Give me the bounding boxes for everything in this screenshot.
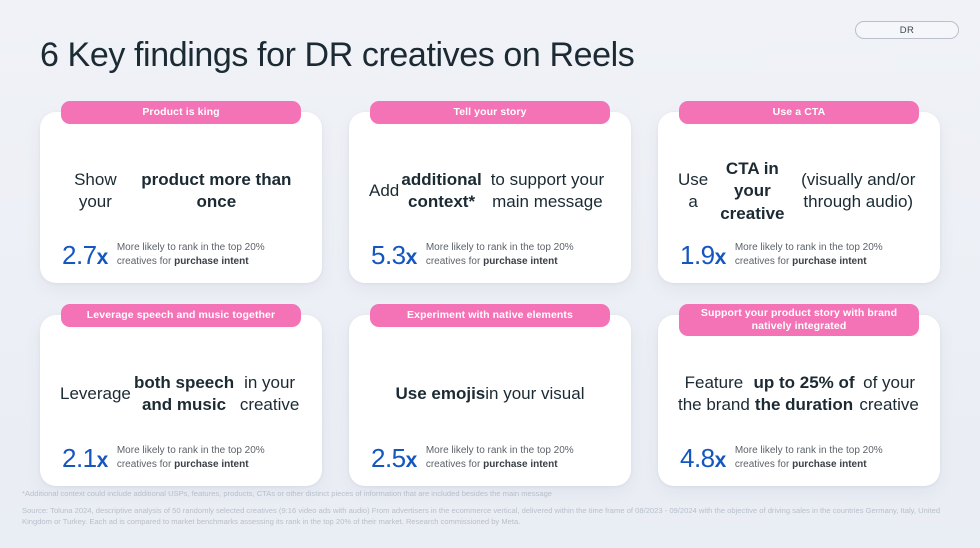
- finding-card-4[interactable]: Leverage both speech and music in your c…: [40, 304, 322, 486]
- stat-number: 2.7: [62, 240, 97, 270]
- stat-value: 2.5x: [371, 445, 417, 471]
- finding-card-5[interactable]: Use emojis in your visual 2.5x More like…: [349, 304, 631, 486]
- stat-desc-line1: More likely to rank in the top 20%: [426, 445, 574, 456]
- stat-number: 1.9: [680, 240, 715, 270]
- stat-desc-line1: More likely to rank in the top 20%: [735, 242, 883, 253]
- stat-desc-line2-prefix: creatives for: [735, 459, 792, 470]
- stat-desc-line2-emphasis: purchase intent: [483, 459, 557, 470]
- slide-root: DR 6 Key findings for DR creatives on Re…: [0, 0, 980, 548]
- card-body: Leverage both speech and music in your c…: [40, 315, 322, 486]
- stat-desc-line2-prefix: creatives for: [735, 256, 792, 267]
- stat-desc-line2-prefix: creatives for: [117, 256, 174, 267]
- stat-row: 2.7x More likely to rank in the top 20% …: [56, 241, 306, 269]
- stat-desc-line2-emphasis: purchase intent: [792, 256, 866, 267]
- stat-description: More likely to rank in the top 20% creat…: [426, 444, 574, 472]
- stat-suffix: x: [715, 449, 726, 472]
- finding-card-2[interactable]: Add additional context* to support your …: [349, 101, 631, 283]
- dr-pill-badge[interactable]: DR: [855, 21, 959, 39]
- stat-description: More likely to rank in the top 20% creat…: [735, 444, 883, 472]
- findings-grid: Show your product more than once 2.7x Mo…: [40, 101, 941, 486]
- card-badge: Leverage speech and music together: [61, 304, 301, 327]
- stat-row: 2.5x More likely to rank in the top 20% …: [365, 444, 615, 472]
- card-body: Feature the brand up to 25% of the durat…: [658, 315, 940, 486]
- stat-suffix: x: [406, 449, 417, 472]
- card-badge: Use a CTA: [679, 101, 919, 124]
- stat-desc-line1: More likely to rank in the top 20%: [117, 445, 265, 456]
- card-headline: Feature the brand up to 25% of the durat…: [674, 345, 924, 444]
- stat-desc-line2-emphasis: purchase intent: [174, 256, 248, 267]
- card-badge: Tell your story: [370, 101, 610, 124]
- card-body: Use emojis in your visual 2.5x More like…: [349, 315, 631, 486]
- stat-description: More likely to rank in the top 20% creat…: [735, 241, 883, 269]
- card-badge: Experiment with native elements: [370, 304, 610, 327]
- stat-suffix: x: [715, 246, 726, 269]
- footnote-additional-context: *Additional context could include additi…: [22, 489, 962, 500]
- stat-number: 2.5: [371, 443, 406, 473]
- stat-desc-line2-emphasis: purchase intent: [174, 459, 248, 470]
- stat-desc-line1: More likely to rank in the top 20%: [117, 242, 265, 253]
- stat-description: More likely to rank in the top 20% creat…: [117, 444, 265, 472]
- stat-desc-line2-prefix: creatives for: [426, 459, 483, 470]
- stat-desc-line1: More likely to rank in the top 20%: [426, 242, 574, 253]
- card-body: Use a CTA in your creative (visually and…: [658, 112, 940, 283]
- footnote-source: Source: Toluna 2024, descriptive analysi…: [22, 506, 962, 528]
- card-headline: Add additional context* to support your …: [365, 142, 615, 241]
- stat-number: 5.3: [371, 240, 406, 270]
- finding-card-1[interactable]: Show your product more than once 2.7x Mo…: [40, 101, 322, 283]
- finding-card-6[interactable]: Feature the brand up to 25% of the durat…: [658, 304, 940, 486]
- stat-value: 2.7x: [62, 242, 108, 268]
- stat-description: More likely to rank in the top 20% creat…: [117, 241, 265, 269]
- stat-row: 4.8x More likely to rank in the top 20% …: [674, 444, 924, 472]
- stat-desc-line2-prefix: creatives for: [426, 256, 483, 267]
- stat-number: 4.8: [680, 443, 715, 473]
- card-body: Show your product more than once 2.7x Mo…: [40, 112, 322, 283]
- card-badge: Support your product story with brand na…: [679, 304, 919, 336]
- dr-pill-label: DR: [900, 25, 915, 36]
- stat-suffix: x: [97, 246, 108, 269]
- stat-value: 2.1x: [62, 445, 108, 471]
- stat-desc-line2-emphasis: purchase intent: [483, 256, 557, 267]
- stat-number: 2.1: [62, 443, 97, 473]
- stat-row: 5.3x More likely to rank in the top 20% …: [365, 241, 615, 269]
- stat-desc-line2-prefix: creatives for: [117, 459, 174, 470]
- card-headline: Use emojis in your visual: [365, 345, 615, 444]
- stat-desc-line1: More likely to rank in the top 20%: [735, 445, 883, 456]
- stat-description: More likely to rank in the top 20% creat…: [426, 241, 574, 269]
- stat-row: 2.1x More likely to rank in the top 20% …: [56, 444, 306, 472]
- card-badge: Product is king: [61, 101, 301, 124]
- footnotes: *Additional context could include additi…: [22, 489, 962, 527]
- card-headline: Show your product more than once: [56, 142, 306, 241]
- stat-value: 5.3x: [371, 242, 417, 268]
- card-body: Add additional context* to support your …: [349, 112, 631, 283]
- card-headline: Leverage both speech and music in your c…: [56, 345, 306, 444]
- card-headline: Use a CTA in your creative (visually and…: [674, 142, 924, 241]
- stat-suffix: x: [97, 449, 108, 472]
- page-title: 6 Key findings for DR creatives on Reels: [40, 36, 634, 75]
- stat-value: 1.9x: [680, 242, 726, 268]
- stat-value: 4.8x: [680, 445, 726, 471]
- finding-card-3[interactable]: Use a CTA in your creative (visually and…: [658, 101, 940, 283]
- stat-desc-line2-emphasis: purchase intent: [792, 459, 866, 470]
- stat-row: 1.9x More likely to rank in the top 20% …: [674, 241, 924, 269]
- stat-suffix: x: [406, 246, 417, 269]
